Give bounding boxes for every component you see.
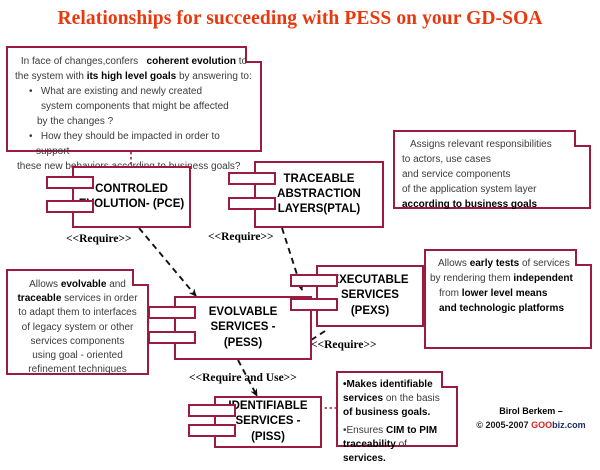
note-ptal-l5: according to business goals (402, 199, 537, 210)
note-pexs-l3a: from (439, 288, 459, 299)
note-evolution-b2l1: • How they should be impacted in order t… (29, 129, 253, 159)
author-name: Birol Berkem – (466, 406, 596, 416)
component-label-line: SERVICES - (236, 414, 301, 429)
component-label-line: IDENTIFIABLE (228, 399, 307, 414)
note-evolution-b1l3: by the changes ? (29, 114, 253, 129)
note-evolution-l2a: the system with (15, 71, 84, 82)
brand-goo: GOO (531, 420, 552, 430)
component-label-line: (PISS) (251, 430, 285, 445)
note-piss-b2e: services. (343, 453, 386, 464)
component-label-line: SERVICES - (211, 320, 276, 335)
component-port-top (228, 172, 276, 185)
note-piss-b1b: services (343, 393, 383, 404)
relation-label-require-and-use: <<Require and Use>> (189, 372, 297, 384)
component-port-top (46, 176, 94, 189)
component-port-top (148, 306, 196, 319)
diagram-canvas: Relationships for succeeding with PESS o… (0, 0, 600, 450)
component-traceable-abstraction-layers[interactable]: TRACEABLE ABSTRACTION LAYERS(PTAL) (228, 161, 384, 228)
brand-biz: biz.com (552, 420, 586, 430)
note-ptal-l1: Assigns relevant responsibilities (402, 137, 582, 152)
page-title: Relationships for succeeding with PESS o… (0, 8, 600, 30)
note-evolution-l2b: its high level goals (87, 71, 176, 82)
note-pess-l6: using goal - oriented (15, 349, 140, 363)
credit-block: Birol Berkem – © 2005-2007 GOObiz.com (466, 406, 596, 430)
note-pess-l2b: services in order (64, 293, 137, 304)
component-label-line: EVOLUTION- (PCE) (79, 197, 184, 212)
note-ptal-l2: to actors, use cases (402, 152, 582, 167)
note-piss-b1d: of business goals. (343, 407, 430, 418)
note-pess-l7: refinement techniques (15, 363, 140, 377)
component-port-bottom (188, 424, 236, 437)
note-identifiable-services: •Makes identifiable services on the basi… (336, 371, 458, 447)
component-evolvable-services[interactable]: EVOLVABLE SERVICES - (PESS) (148, 296, 312, 360)
note-piss-b1c: on the basis (386, 393, 440, 404)
note-piss-b2c: traceability (343, 439, 396, 450)
note-pexs-l1c: of services (522, 258, 570, 269)
note-pess-l1a: Allows (29, 279, 58, 290)
note-piss-b1a: •Makes identifiable (343, 379, 433, 390)
note-controled-evolution: In face of changes,confers coherent evol… (6, 46, 262, 152)
note-pexs-l2b: independent (513, 273, 572, 284)
relation-label-require-ptal: <<Require>> (208, 231, 274, 243)
note-piss-b2d: of (399, 439, 407, 450)
note-pess-l2a: traceable (17, 293, 61, 304)
note-pexs-l3b: lower level means (462, 288, 548, 299)
note-evolution-l2c: by answering to: (179, 71, 252, 82)
note-evolution-b1l2: system components that might be affected (29, 99, 253, 114)
note-traceable-abstraction-layers: Assigns relevant responsibilities to act… (393, 130, 591, 209)
note-piss-b2b: CIM to PIM (386, 425, 437, 436)
note-ptal-l3: and service components (402, 167, 582, 182)
component-label-line: ABSTRACTION (277, 187, 361, 202)
note-pess-l1b: evolvable (61, 279, 107, 290)
note-piss-b2a: •Ensures (343, 425, 383, 436)
component-port-bottom (228, 197, 276, 210)
copyright-line: © 2005-2007 GOObiz.com (466, 420, 596, 430)
component-port-bottom (148, 331, 196, 344)
component-port-top (290, 274, 338, 287)
note-evolution-l1b: coherent evolution (147, 56, 236, 67)
component-label-line: TRACEABLE (284, 172, 355, 187)
note-pexs-l4: and technologic platforms (439, 303, 564, 314)
component-label-line: CONTROLED (95, 182, 168, 197)
component-label-line: (PEXS) (351, 304, 389, 319)
note-evolution-b1l1: • What are existing and newly created (29, 84, 253, 99)
component-label-line: SERVICES (341, 288, 399, 303)
note-evolvable-services: Allows evolvable and traceable services … (6, 269, 149, 375)
note-pess-l1c: and (109, 279, 126, 290)
note-evolution-l1c: to (239, 56, 247, 67)
component-label-line: EVOLVABLE (209, 305, 278, 320)
note-pexs-l1a: Allows (438, 258, 467, 269)
component-label-line: LAYERS(PTAL) (278, 202, 360, 217)
relation-label-require-pexs: <<Require>> (311, 339, 377, 351)
component-identifiable-services[interactable]: IDENTIFIABLE SERVICES - (PISS) (188, 396, 322, 448)
note-pess-l3: to adapt them to interfaces (15, 306, 140, 320)
component-port-bottom (290, 298, 338, 311)
note-pexs-l1b: early tests (470, 258, 519, 269)
component-port-bottom (46, 200, 94, 213)
component-controled-evolution[interactable]: CONTROLED EVOLUTION- (PCE) (46, 166, 191, 228)
component-label-line: (PESS) (224, 336, 262, 351)
note-ptal-l4: of the application system layer (402, 182, 582, 197)
note-evolution-l1a: In face of changes,confers (21, 56, 138, 67)
component-label-line: EXECUTABLE (331, 273, 408, 288)
note-executable-services: Allows early tests of services by render… (424, 249, 592, 349)
relation-label-require-pce: <<Require>> (66, 233, 132, 245)
note-pess-l5: services components (15, 335, 140, 349)
note-pexs-l2a: by rendering them (430, 273, 511, 284)
component-port-top (188, 404, 236, 417)
note-pess-l4: of legacy system or other (15, 321, 140, 335)
copyright-years: © 2005-2007 (476, 420, 528, 430)
